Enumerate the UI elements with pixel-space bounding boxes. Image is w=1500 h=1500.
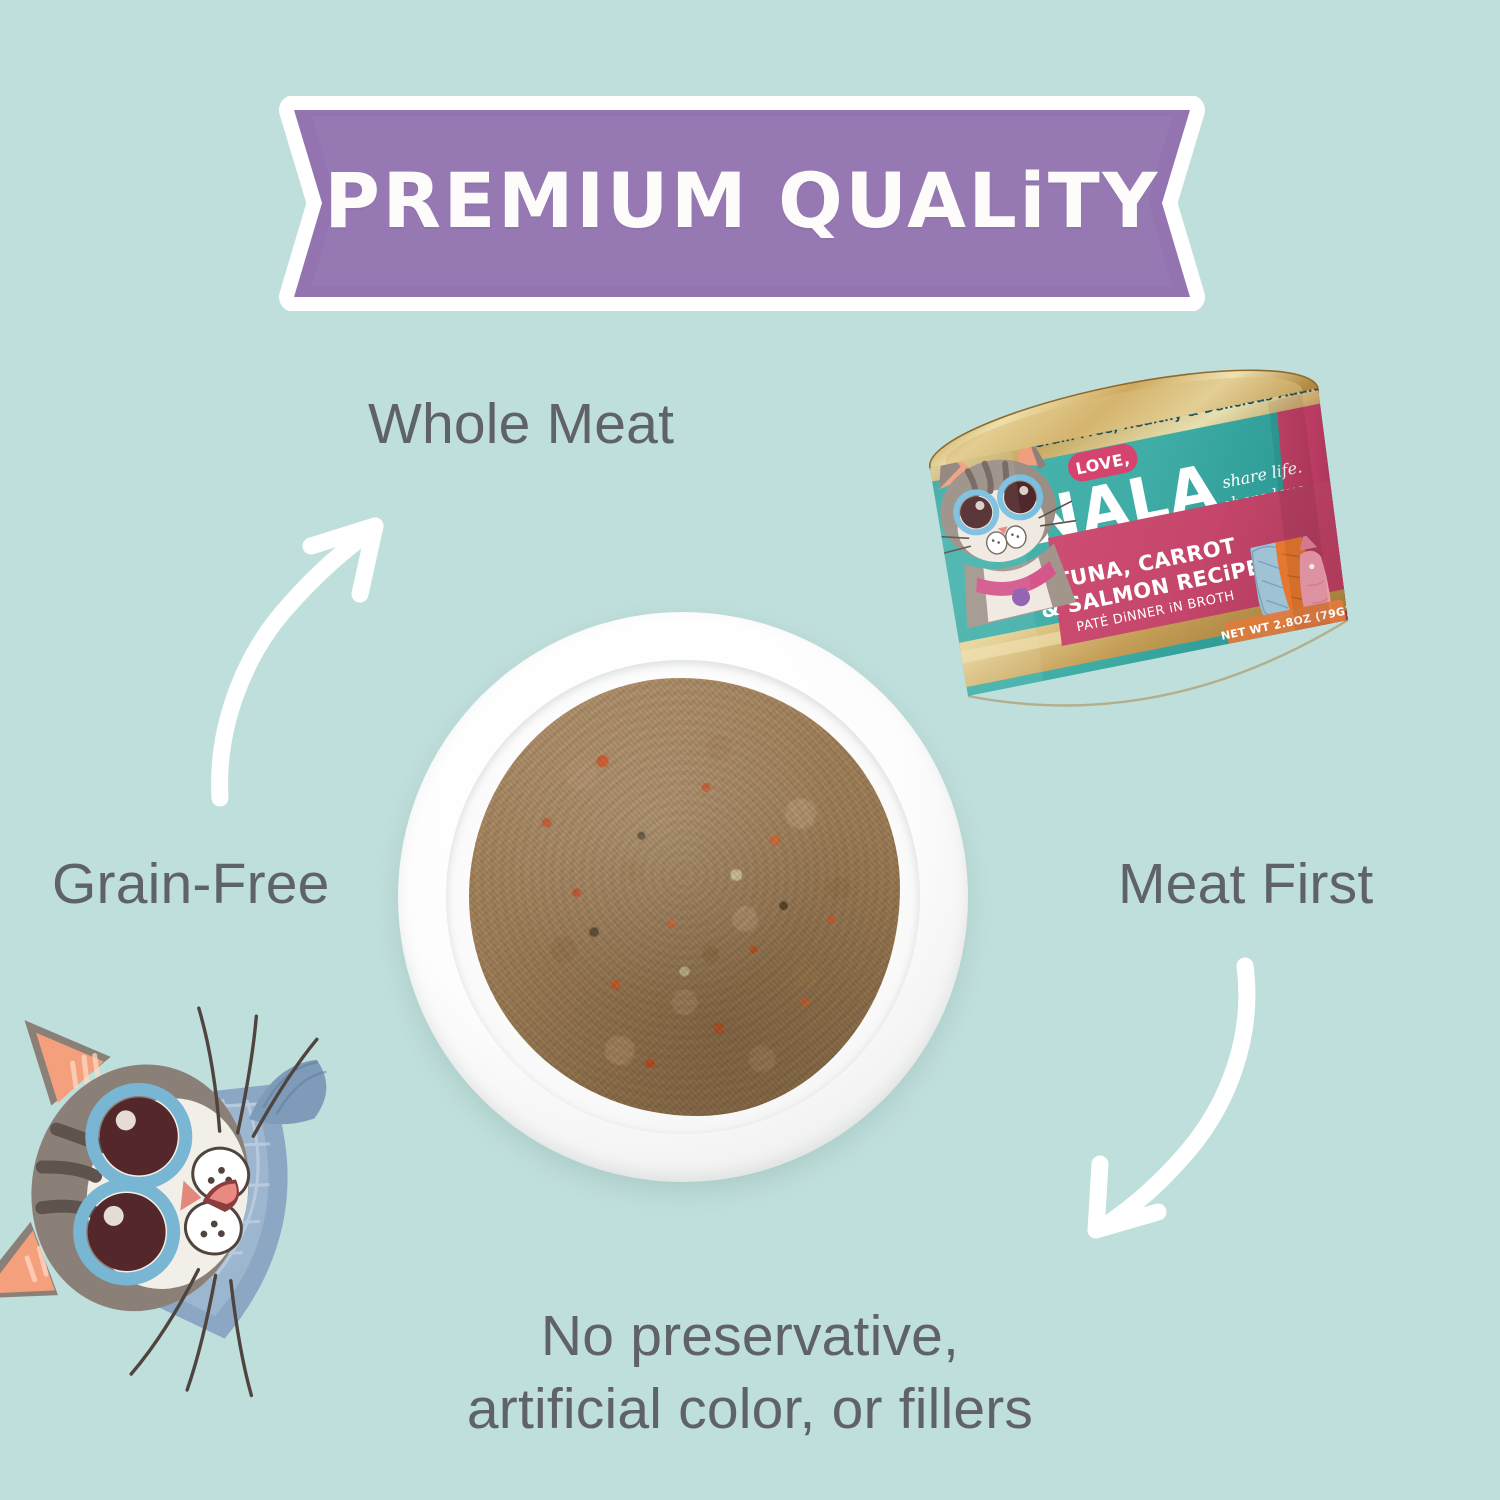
callout-whole-meat: Whole Meat bbox=[368, 388, 674, 461]
cat-food-pate bbox=[469, 678, 899, 1117]
food-shading bbox=[469, 678, 899, 1117]
arrow-up-right-icon bbox=[172, 498, 407, 823]
product-can: Grain Free, Healthy & Delicious Adult Ca… bbox=[872, 352, 1372, 732]
arrow-down-left-icon bbox=[1040, 938, 1305, 1263]
nala-cat-mascot bbox=[0, 988, 346, 1398]
premium-quality-banner: PREMIUM QUALiTY bbox=[272, 96, 1212, 311]
infographic-canvas: PREMIUM QUALiTY Whole Meat Grain-Free Me… bbox=[0, 0, 1500, 1500]
callout-grain-free: Grain-Free bbox=[52, 848, 330, 921]
callout-meat-first: Meat First bbox=[1118, 848, 1373, 921]
banner-title: PREMIUM QUALiTY bbox=[272, 96, 1212, 311]
